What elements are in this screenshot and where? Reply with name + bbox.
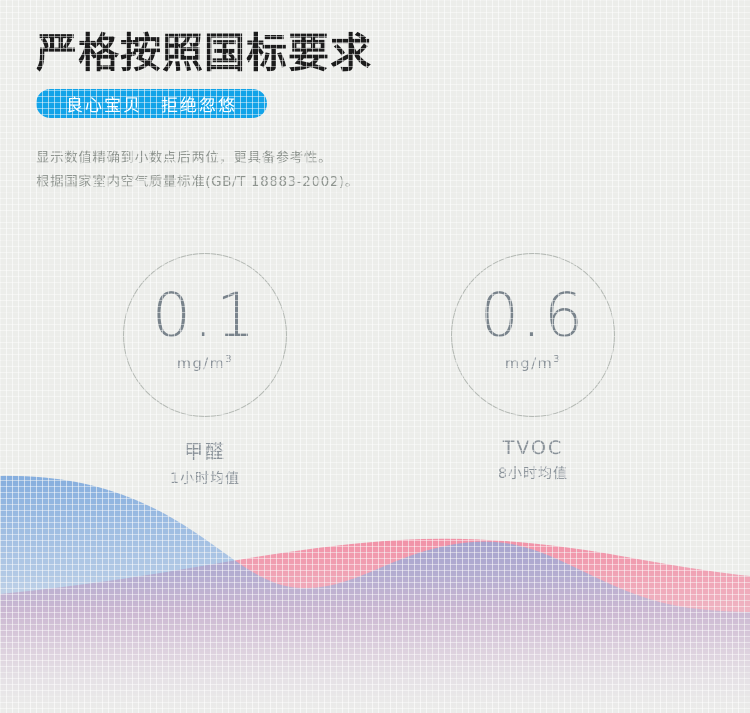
description-line-1: 显示数值精确到小数点后两位，更具备参考性。 (36, 146, 359, 170)
description-block: 显示数值精确到小数点后两位，更具备参考性。 根据国家室内空气质量标准(GB/T … (36, 146, 359, 194)
gauge-value-tvoc: 0.6 (480, 286, 586, 346)
metric-name-tvoc: TVOC (418, 437, 648, 459)
gauge-value-formaldehyde: 0.1 (152, 286, 258, 346)
gauge-unit-formaldehyde: mg/m3 (177, 356, 233, 372)
gauge-unit-base-formaldehyde: mg/m (177, 356, 225, 372)
gauge-circle-tvoc: 0.6 mg/m3 (451, 253, 615, 417)
metric-sub-tvoc: 8小时均值 (418, 463, 648, 483)
header-block: 严格按照国标要求 良心宝贝 拒绝忽悠 (36, 28, 372, 118)
metric-tvoc: 0.6 mg/m3 TVOC 8小时均值 (418, 250, 648, 483)
metric-name-formaldehyde: 甲醛 (90, 437, 320, 464)
gauge-circle-formaldehyde: 0.1 mg/m3 (123, 253, 287, 417)
page-title: 严格按照国标要求 (36, 28, 372, 78)
gauge-unit-exponent-tvoc: 3 (553, 354, 561, 365)
description-line-2: 根据国家室内空气质量标准(GB/T 18883-2002)。 (36, 170, 359, 194)
metrics-row: 0.1 mg/m3 甲醛 1小时均值 0.6 mg/m3 TVOC 8小时均值 (0, 250, 750, 480)
metric-sub-formaldehyde: 1小时均值 (90, 468, 320, 488)
page-root: 严格按照国标要求 良心宝贝 拒绝忽悠 显示数值精确到小数点后两位，更具备参考性。… (0, 0, 750, 713)
wave-decoration (0, 468, 750, 713)
gauge-unit-base-tvoc: mg/m (505, 356, 553, 372)
slogan-badge: 良心宝贝 拒绝忽悠 (36, 89, 267, 118)
gauge-unit-tvoc: mg/m3 (505, 356, 561, 372)
gauge-unit-exponent-formaldehyde: 3 (225, 354, 233, 365)
metric-formaldehyde: 0.1 mg/m3 甲醛 1小时均值 (90, 250, 320, 488)
